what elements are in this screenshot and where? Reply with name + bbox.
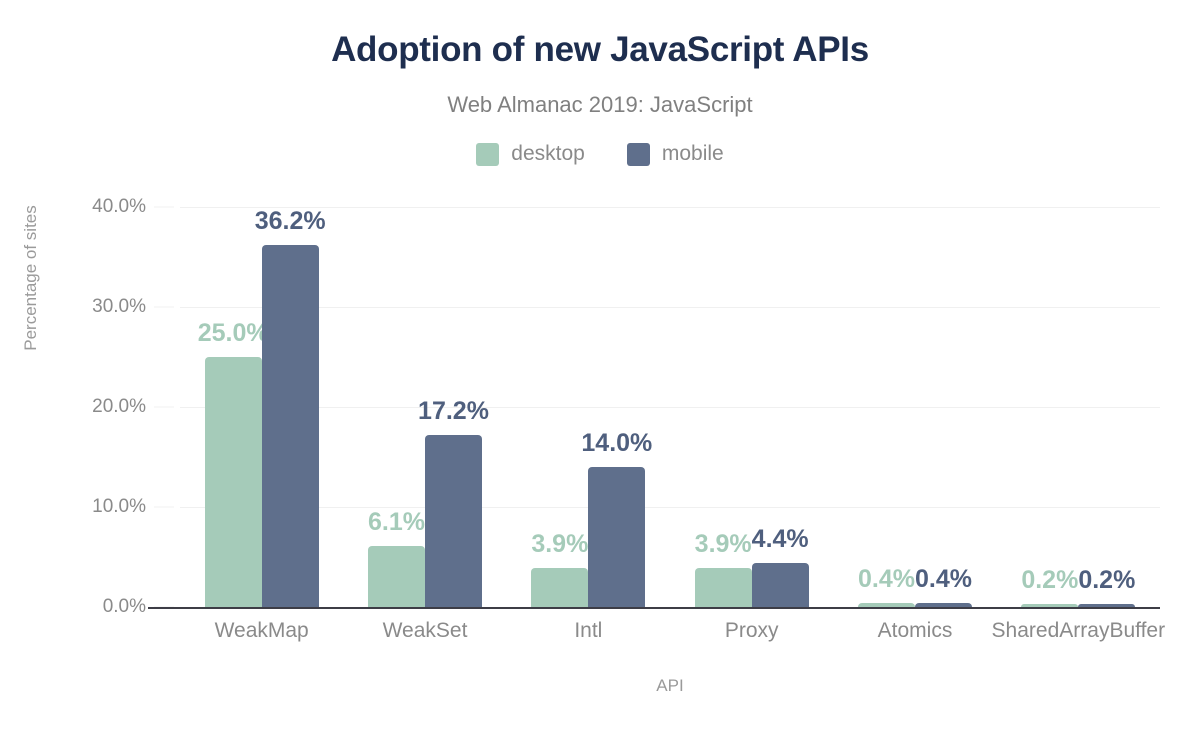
y-axis-tick-mark: [154, 507, 174, 508]
bar-group: 0.2%0.2%SharedArrayBuffer: [180, 207, 1160, 607]
y-axis-tick-label: 0.0%: [26, 596, 146, 618]
chart-container: Adoption of new JavaScript APIs Web Alma…: [0, 0, 1200, 742]
plot-area: 0.0%10.0%20.0%30.0%40.0%25.0%36.2%WeakMa…: [180, 207, 1160, 607]
bar-value-label-mobile-sharedarraybuffer: 0.2%: [1078, 566, 1135, 595]
x-axis-category-label-sharedarraybuffer: SharedArrayBuffer: [992, 619, 1166, 643]
y-axis-tick-label: 10.0%: [26, 496, 146, 518]
legend-label-desktop: desktop: [511, 142, 585, 166]
chart-legend: desktopmobile: [0, 142, 1200, 166]
y-axis-tick-mark: [154, 407, 174, 408]
chart-subtitle: Web Almanac 2019: JavaScript: [0, 92, 1200, 118]
bar-desktop-sharedarraybuffer[interactable]: [1021, 604, 1078, 607]
legend-item-desktop[interactable]: desktop: [476, 142, 585, 166]
legend-swatch-mobile: [627, 143, 650, 166]
chart-title: Adoption of new JavaScript APIs: [0, 30, 1200, 70]
x-axis-category-label-atomics: Atomics: [878, 619, 953, 643]
x-axis-category-label-weakset: WeakSet: [383, 619, 468, 643]
y-axis-tick-label: 20.0%: [26, 396, 146, 418]
legend-item-mobile[interactable]: mobile: [627, 142, 724, 166]
x-axis-category-label-weakmap: WeakMap: [215, 619, 309, 643]
x-axis-category-label-intl: Intl: [574, 619, 602, 643]
y-axis-tick-label: 30.0%: [26, 296, 146, 318]
legend-swatch-desktop: [476, 143, 499, 166]
y-axis-tick-label: 40.0%: [26, 196, 146, 218]
y-axis-title: Percentage of sites: [21, 158, 41, 398]
x-axis-title: API: [180, 676, 1160, 696]
y-axis-tick-mark: [154, 307, 174, 308]
x-axis-category-label-proxy: Proxy: [725, 619, 779, 643]
bar-mobile-sharedarraybuffer[interactable]: [1078, 604, 1135, 607]
bar-value-label-desktop-sharedarraybuffer: 0.2%: [1021, 566, 1078, 595]
y-axis-tick-mark: [154, 207, 174, 208]
x-axis-line: [148, 607, 1160, 609]
legend-label-mobile: mobile: [662, 142, 724, 166]
